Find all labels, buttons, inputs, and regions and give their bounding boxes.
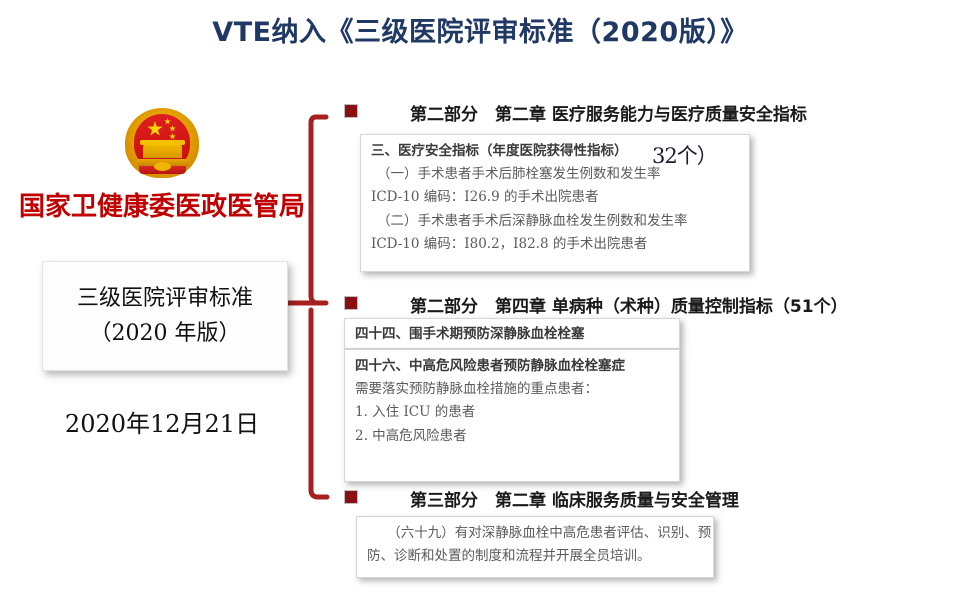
doc-line: ICD-10 编码：I80.2，I82.8 的手术出院患者 [371,233,739,256]
emblem-container [12,104,312,190]
square-bullet-icon [344,296,358,310]
organization-name: 国家卫健康委医政医管局 [12,192,312,223]
doc-line: 需要落实预防静脉血栓措施的重点患者： [355,378,669,401]
square-bullet-icon [344,490,358,504]
section-2-box-1: 四十四、围手术期预防深静脉血栓栓塞 [344,318,680,349]
slide-canvas: VTE纳入《三级医院评审标准（2020版）》 国家卫健 [0,0,960,594]
page-title: VTE纳入《三级医院评审标准（2020版）》 [0,10,960,49]
document-card-line2: （2020 年版） [90,316,241,351]
doc-line: （二）手术患者手术后深静脉血栓发生例数和发生率 [371,210,739,233]
section-1-heading: 第二部分 第二章 医疗服务能力与医疗质量安全指标 [410,100,807,125]
handwritten-annotation-32: 32个） [652,140,717,170]
document-card-line1: 三级医院评审标准 [77,281,253,316]
doc-line: 防、诊断和处置的制度和流程并开展全员培训。 [367,545,703,568]
china-national-emblem-icon [123,104,201,186]
section-3-heading: 第三部分 第二章 临床服务质量与安全管理 [410,486,739,511]
doc-line: 2. 中高危风险患者 [355,425,669,448]
doc-line: （六十九）有对深静脉血栓中高危患者评估、识别、预 [367,522,703,545]
square-bullet-icon [344,104,358,118]
section-2-box-2: 四十六、中高危风险患者预防静脉血栓栓塞症 需要落实预防静脉血栓措施的重点患者： … [344,349,680,482]
section-2-heading: 第二部分 第四章 单病种（术种）质量控制指标（51个） [410,292,848,317]
doc-line: 四十六、中高危风险患者预防静脉血栓栓塞症 [355,355,669,378]
document-date: 2020年12月21日 [12,404,312,439]
left-panel: 国家卫健康委医政医管局 三级医院评审标准 （2020 年版） 2020年12月2… [12,104,312,223]
doc-line: 1. 入住 ICU 的患者 [355,401,669,424]
document-card: 三级医院评审标准 （2020 年版） [42,261,288,371]
doc-line: ICD-10 编码：I26.9 的手术出院患者 [371,186,739,209]
section-3-box-1: （六十九）有对深静脉血栓中高危患者评估、识别、预 防、诊断和处置的制度和流程并开… [356,516,714,578]
doc-line: 四十四、围手术期预防深静脉血栓栓塞 [355,323,669,346]
